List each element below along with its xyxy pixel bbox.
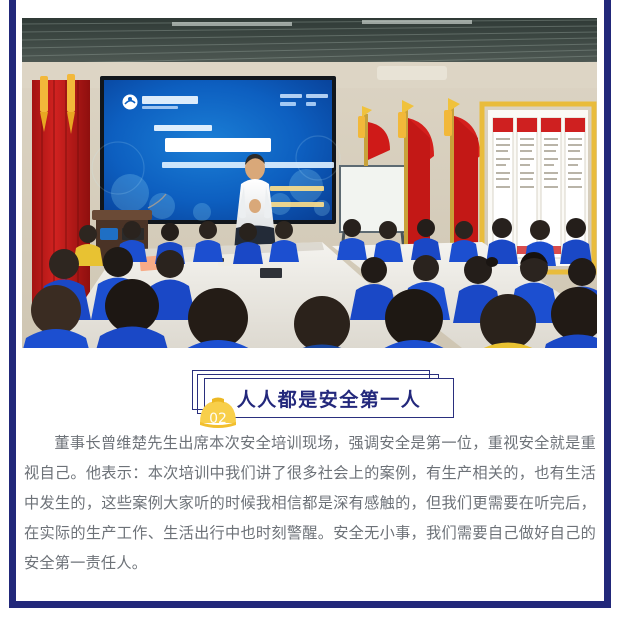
frame-right-border: [604, 0, 611, 608]
screen-year-line: [154, 125, 212, 131]
article-page: 人人都是安全第一人 02 董事长曾维楚先生出席本次安全培训现场，强调安全是第一位…: [0, 0, 620, 618]
frame-left-border: [9, 0, 16, 608]
svg-text:02: 02: [209, 411, 227, 427]
section-title-block: 人人都是安全第一人: [22, 365, 597, 423]
screen-main-title: [165, 138, 271, 152]
article-body-paragraph: 董事长曾维楚先生出席本次安全培训现场，强调安全是第一位，重视安全就是重视自己。他…: [24, 428, 596, 578]
frame-bottom-border: [9, 601, 611, 608]
safety-helmet-icon: 02: [196, 393, 240, 429]
training-scene-photo: [22, 18, 597, 348]
section-title-text: 人人都是安全第一人: [204, 378, 454, 418]
helmet-badge: 02: [196, 393, 240, 429]
photo-illustration: [22, 18, 597, 348]
